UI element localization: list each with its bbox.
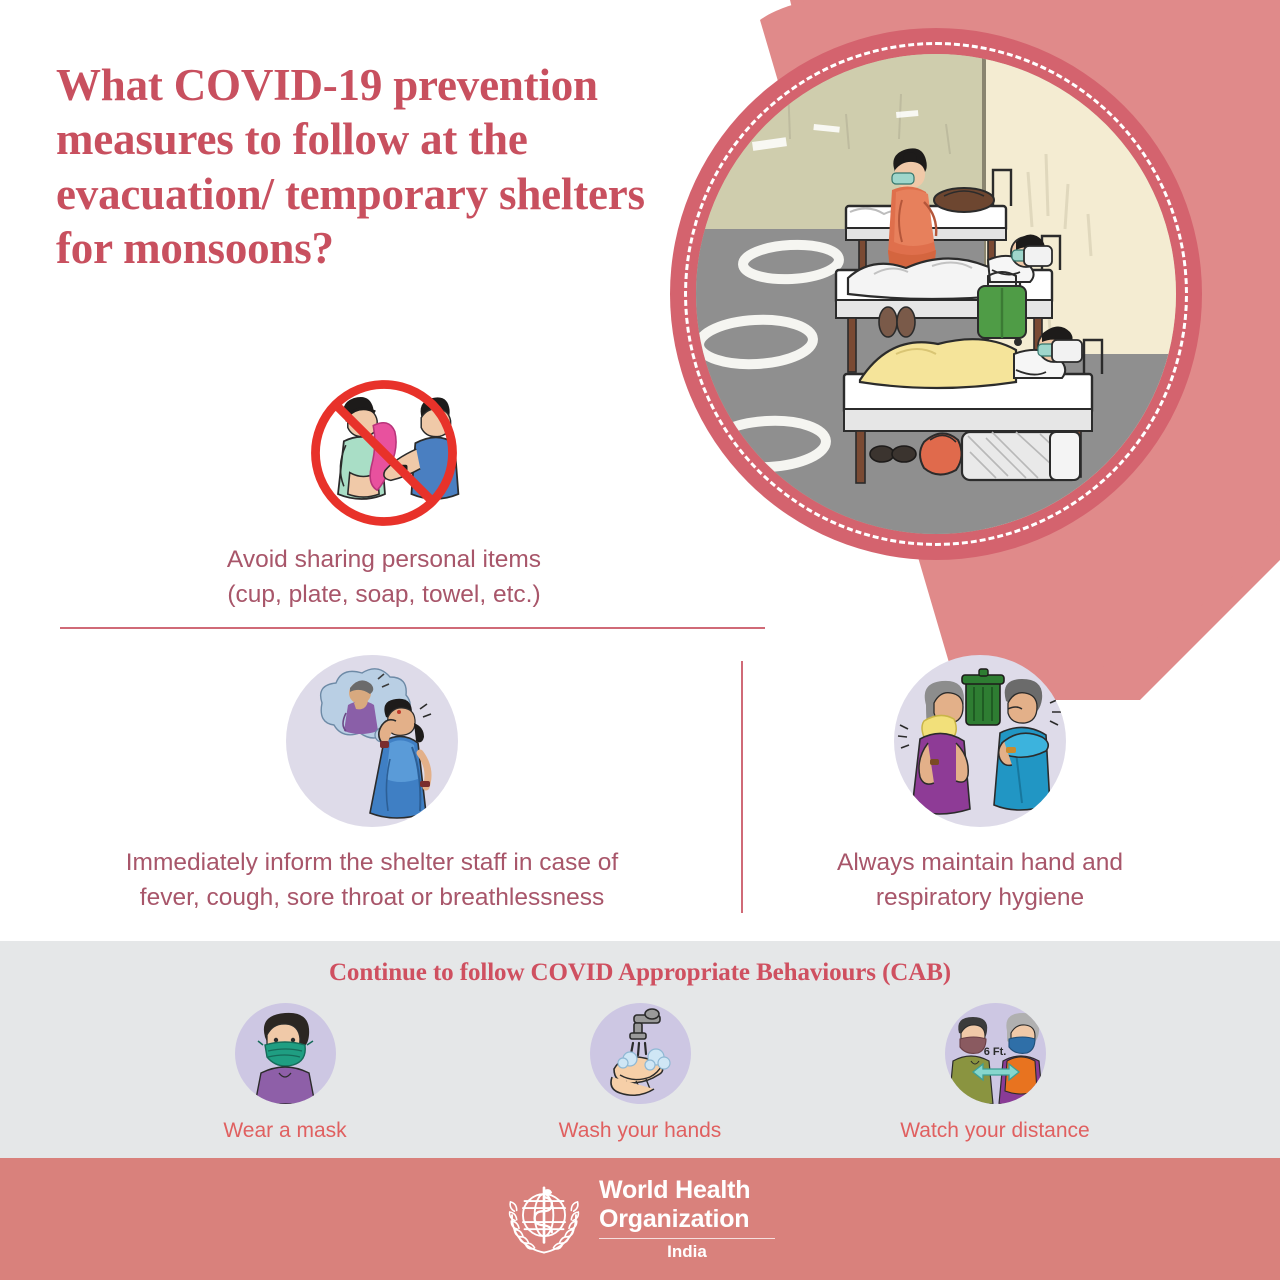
vertical-divider — [741, 661, 743, 913]
cab-items: Wear a mask — [0, 1003, 1280, 1143]
distance-badge-text: 6 Ft. — [983, 1046, 1006, 1058]
who-org-line-2: Organization — [599, 1205, 775, 1234]
respiratory-hygiene-caption: Always maintain hand and respiratory hyg… — [790, 846, 1170, 916]
cab-band: Continue to follow COVID Appropriate Beh… — [0, 941, 1280, 1158]
who-emblem-icon — [505, 1180, 583, 1258]
cab-label-watch-distance: Watch your distance — [895, 1119, 1095, 1143]
cab-item-wear-mask: Wear a mask — [185, 1003, 385, 1143]
who-wordmark: World Health Organization India — [599, 1176, 775, 1262]
cab-title: Continue to follow COVID Appropriate Beh… — [0, 959, 1280, 987]
no-sharing-icon — [291, 378, 477, 528]
caption-line-2: respiratory hygiene — [790, 881, 1170, 916]
distance-icon: 6 Ft. — [945, 1003, 1046, 1104]
avoid-sharing-caption: Avoid sharing personal items (cup, plate… — [60, 543, 708, 613]
caption-line-1: Always maintain hand and — [790, 846, 1170, 881]
measure-avoid-sharing: Avoid sharing personal items (cup, plate… — [60, 378, 708, 613]
who-org-name: World Health Organization — [599, 1176, 775, 1233]
horizontal-divider — [60, 627, 765, 629]
cab-label-wear-mask: Wear a mask — [185, 1119, 385, 1143]
caption-line-1: Immediately inform the shelter staff in … — [42, 846, 702, 881]
hero-illustration-circle — [670, 28, 1202, 560]
shelter-illustration — [696, 54, 1176, 534]
who-org-line-1: World Health — [599, 1176, 775, 1205]
report-symptoms-icon — [286, 655, 458, 827]
who-country-label: India — [599, 1242, 775, 1262]
who-footer: World Health Organization India — [0, 1158, 1280, 1280]
who-divider — [599, 1238, 775, 1239]
cab-item-watch-distance: 6 Ft. Watch your distance — [895, 1003, 1095, 1143]
cough-etiquette-icon — [894, 655, 1066, 827]
caption-line-1: Avoid sharing personal items — [60, 543, 708, 578]
cab-item-wash-hands: Wash your hands — [540, 1003, 740, 1143]
inform-staff-caption: Immediately inform the shelter staff in … — [42, 846, 702, 916]
measure-respiratory-hygiene: Always maintain hand and respiratory hyg… — [790, 655, 1170, 916]
caption-line-2: (cup, plate, soap, towel, etc.) — [60, 578, 708, 613]
caption-line-2: fever, cough, sore throat or breathlessn… — [42, 881, 702, 916]
handwash-icon — [590, 1003, 691, 1104]
measure-inform-staff: Immediately inform the shelter staff in … — [42, 655, 702, 916]
page-title: What COVID-19 prevention measures to fol… — [56, 58, 656, 276]
masked-person-icon — [235, 1003, 336, 1104]
hero-image-clip — [696, 54, 1176, 534]
cab-label-wash-hands: Wash your hands — [540, 1119, 740, 1143]
